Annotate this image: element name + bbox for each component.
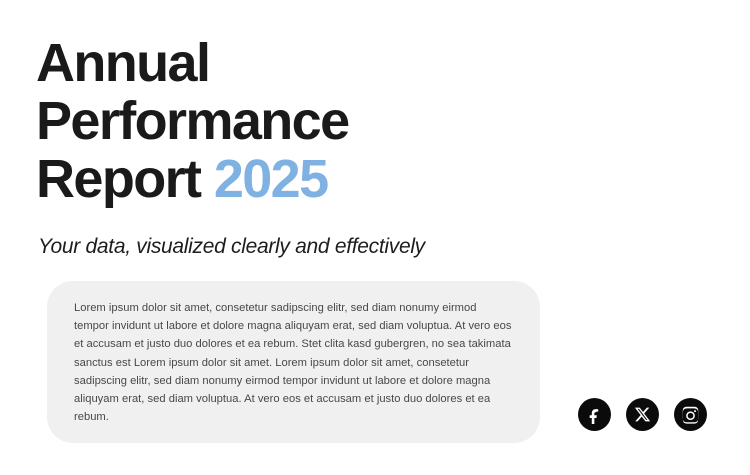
x-twitter-icon: [634, 406, 651, 423]
instagram-icon: [681, 405, 700, 424]
social-link-instagram[interactable]: [674, 398, 707, 431]
body-card: Lorem ipsum dolor sit amet, consetetur s…: [47, 281, 540, 443]
body-paragraph: Lorem ipsum dolor sit amet, consetetur s…: [74, 299, 514, 426]
social-links: [578, 398, 707, 431]
headline-line-1: Annual: [36, 34, 596, 92]
headline-line-2: Performance: [36, 92, 596, 150]
headline-line-3: Report 2025: [36, 150, 596, 208]
headline-line-3-main: Report: [36, 149, 200, 209]
social-link-facebook[interactable]: [578, 398, 611, 431]
social-link-x[interactable]: [626, 398, 659, 431]
page-subtitle: Your data, visualized clearly and effect…: [38, 234, 425, 260]
report-page: Annual Performance Report 2025 Your data…: [0, 0, 750, 475]
facebook-icon: [585, 405, 604, 424]
page-title: Annual Performance Report 2025: [36, 34, 596, 208]
headline-year-accent: 2025: [214, 149, 328, 209]
